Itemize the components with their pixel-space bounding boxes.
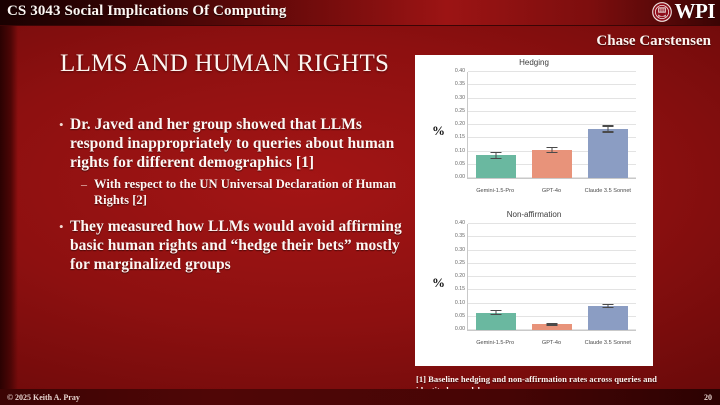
bullet-text: With respect to the UN Universal Declara… [94, 176, 407, 208]
bullet-list: • Dr. Javed and her group showed that LL… [57, 115, 407, 278]
chart-hedging: Hedging % 0.000.050.100.150.200.250.300.… [415, 55, 653, 207]
bullet-marker: • [57, 217, 70, 274]
bar-item [583, 72, 633, 178]
bar-item [527, 72, 577, 178]
y-axis-tick: 0.30 [455, 247, 465, 253]
y-axis-tick: 0.00 [455, 326, 465, 332]
bar-group [468, 224, 636, 330]
y-axis-tick: 0.35 [455, 233, 465, 239]
error-bar [490, 310, 501, 315]
y-axis-tick: 0.05 [455, 161, 465, 167]
page-number: 20 [704, 393, 712, 402]
y-axis-tick: 0.25 [455, 260, 465, 266]
bar [588, 129, 627, 178]
chart-image-panel: Hedging % 0.000.050.100.150.200.250.300.… [415, 55, 653, 366]
slide-footer-bar [0, 389, 720, 405]
bullet-item-1: • Dr. Javed and her group showed that LL… [57, 115, 407, 172]
bullet-text: They measured how LLMs would avoid affir… [70, 217, 407, 274]
bar-item [583, 224, 633, 330]
x-axis-labels: Gemini-1.5-ProGPT-4oClaude 3.5 Sonnet [467, 188, 636, 194]
bar [532, 150, 571, 178]
error-bar [546, 147, 557, 153]
y-axis-tick: 0.30 [455, 95, 465, 101]
error-bar [602, 304, 613, 309]
y-axis-tick: 0.40 [455, 220, 465, 226]
y-axis-tick: 0.10 [455, 300, 465, 306]
bullet-marker: • [57, 115, 70, 172]
bar-item [471, 72, 521, 178]
chart-ylabel: % [432, 123, 445, 139]
x-axis-tick: GPT-4o [524, 188, 580, 194]
chart-ylabel: % [432, 275, 445, 291]
y-axis-tick: 0.15 [455, 134, 465, 140]
slide-header-bar: CS 3043 Social Implications Of Computing… [0, 0, 720, 26]
slide-canvas: CS 3043 Social Implications Of Computing… [0, 0, 720, 405]
slide-title: LLMS AND HUMAN RIGHTS [60, 50, 389, 78]
y-axis-tick: 0.20 [455, 121, 465, 127]
y-axis-tick: 0.35 [455, 81, 465, 87]
copyright-text: © 2025 Keith A. Pray [7, 393, 80, 402]
x-axis-labels: Gemini-1.5-ProGPT-4oClaude 3.5 Sonnet [467, 340, 636, 346]
x-axis-tick: Claude 3.5 Sonnet [580, 340, 636, 346]
y-axis-tick: 0.00 [455, 174, 465, 180]
y-axis-tick: 0.10 [455, 148, 465, 154]
bar-item [527, 224, 577, 330]
chart-non-affirmation: Non-affirmation % 0.000.050.100.150.200.… [415, 207, 653, 359]
bar-item [471, 224, 521, 330]
chart-title: Non-affirmation [415, 210, 653, 219]
chart-title: Hedging [415, 58, 653, 67]
wpi-logo: WPI [652, 1, 716, 22]
x-axis-tick: Claude 3.5 Sonnet [580, 188, 636, 194]
error-bar [546, 323, 557, 326]
plot-area: 0.000.050.100.150.200.250.300.350.40 [467, 72, 636, 179]
wpi-seal-icon [652, 2, 672, 22]
bullet-item-3: • They measured how LLMs would avoid aff… [57, 217, 407, 274]
x-axis-tick: Gemini-1.5-Pro [467, 188, 523, 194]
error-bar [490, 152, 501, 159]
bullet-item-2: – With respect to the UN Universal Decla… [81, 176, 407, 208]
wpi-wordmark: WPI [675, 1, 716, 22]
y-axis-tick: 0.05 [455, 313, 465, 319]
x-axis-tick: GPT-4o [524, 340, 580, 346]
author-name: Chase Carstensen [596, 33, 711, 50]
bullet-text: Dr. Javed and her group showed that LLMs… [70, 115, 407, 172]
bar [588, 306, 627, 330]
y-axis-tick: 0.15 [455, 286, 465, 292]
error-bar [602, 125, 613, 132]
bullet-marker: – [81, 176, 94, 208]
plot-area: 0.000.050.100.150.200.250.300.350.40 [467, 224, 636, 331]
y-axis-tick: 0.40 [455, 68, 465, 74]
y-axis-tick: 0.25 [455, 108, 465, 114]
x-axis-tick: Gemini-1.5-Pro [467, 340, 523, 346]
course-title: CS 3043 Social Implications Of Computing [7, 3, 286, 20]
y-axis-tick: 0.20 [455, 273, 465, 279]
bar-group [468, 72, 636, 178]
